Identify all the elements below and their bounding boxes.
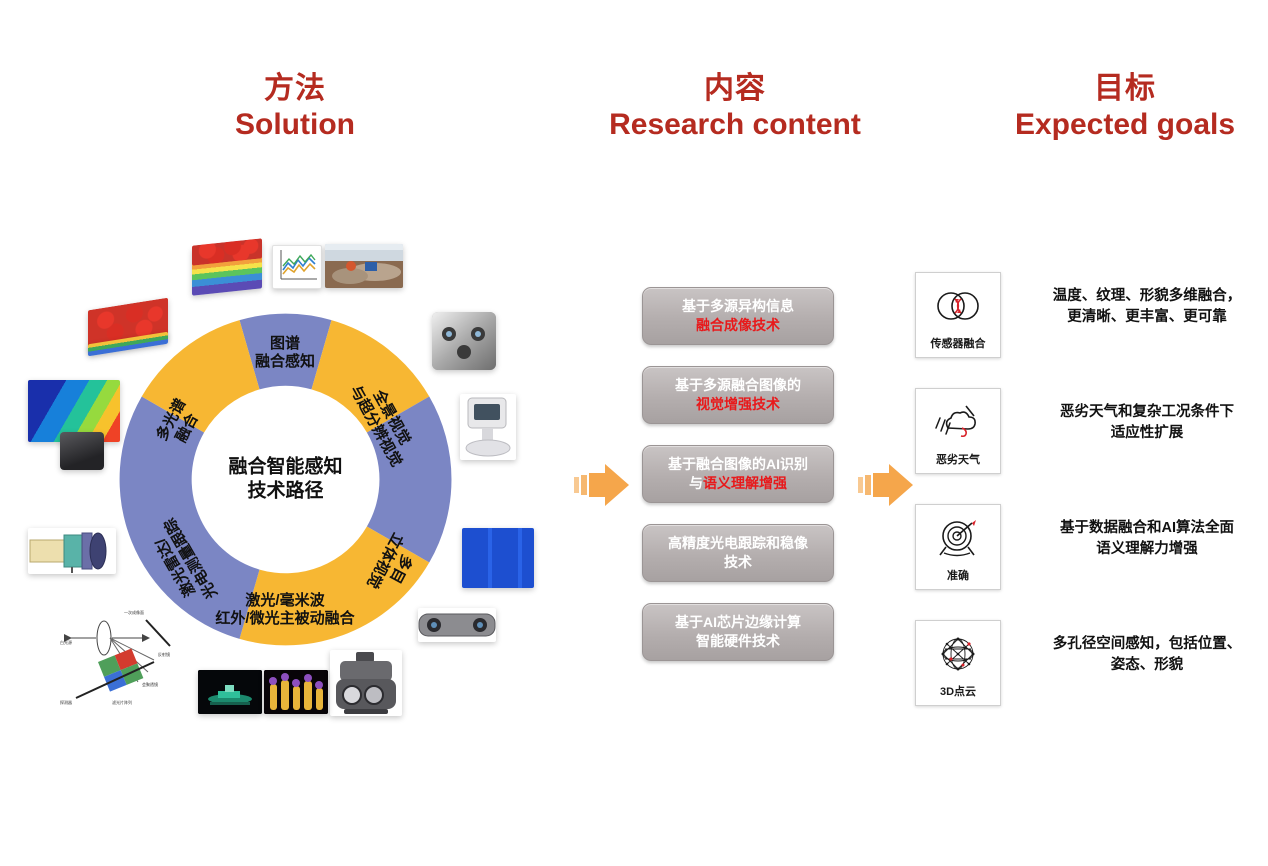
svg-text:滤光片阵列: 滤光片阵列 (112, 699, 132, 705)
goal-text-accuracy-l1: 基于数据融合和AI算法全面 (1027, 518, 1267, 539)
arrow-content-to-goals (856, 462, 914, 508)
column-header-solution-en: Solution (130, 108, 460, 142)
content-box-tracking-stabilization-l1: 高精度光电跟踪和稳像 (668, 535, 808, 551)
thumbnail-scanner-device (460, 394, 516, 460)
donut-center-line2: 技术路径 (228, 480, 342, 505)
content-box-ai-semantic[interactable]: 基于融合图像的AI识别 与语义理解增强 (642, 445, 834, 503)
goal-card-bad-weather[interactable]: 恶劣天气 (915, 388, 1001, 474)
expected-goals-list: 传感器融合 温度、纹理、形貌多维融合， 更清晰、更丰富、更可靠 (915, 272, 1265, 736)
column-header-goals-en: Expected goals (960, 108, 1268, 142)
content-box-visual-enhance-plain: 基于多源融合图像的 (675, 377, 801, 393)
venn-circles-icon (916, 273, 1000, 339)
column-header-content: 内容 Research content (570, 72, 900, 141)
thumbnail-optical-assembly (28, 528, 116, 574)
goal-text-accuracy-l2: 语义理解力增强 (1027, 539, 1267, 560)
column-header-goals-zh: 目标 (960, 72, 1268, 106)
content-box-fusion-imaging[interactable]: 基于多源异构信息 融合成像技术 (642, 287, 834, 345)
technology-path-donut: 图谱 融合感知 全景视觉 与超分辨视觉 多目 立体视觉 激光/毫米波 红外/微光… (118, 292, 453, 667)
right-arrow-icon (856, 462, 914, 508)
scanner-device-icon (460, 394, 516, 460)
goal-text-accuracy: 基于数据融合和AI算法全面 语义理解力增强 (1027, 518, 1267, 560)
thumbnail-industrial-site-photo (325, 244, 403, 288)
content-box-tracking-stabilization-l2: 技术 (724, 554, 752, 570)
goal-row-point-cloud: 3D点云 多孔径空间感知，包括位置、 姿态、形貌 (915, 620, 1265, 736)
content-box-ai-semantic-l2prefix: 与 (689, 475, 703, 491)
goal-text-sensor-fusion: 温度、纹理、形貌多维融合， 更清晰、更丰富、更可靠 (1027, 286, 1267, 328)
content-box-tracking-stabilization[interactable]: 高精度光电跟踪和稳像 技术 (642, 524, 834, 582)
column-header-content-zh: 内容 (570, 72, 900, 106)
column-header-solution-zh: 方法 (130, 72, 460, 106)
content-box-visual-enhance[interactable]: 基于多源融合图像的 视觉增强技术 (642, 366, 834, 424)
goal-card-point-cloud[interactable]: 3D点云 (915, 620, 1001, 706)
svg-text:白光源: 白光源 (60, 639, 72, 645)
content-box-ai-chip-edge-l1: 基于AI芯片边缘计算 (675, 614, 801, 630)
rain-cloud-icon (916, 389, 1000, 455)
goal-row-sensor-fusion: 传感器融合 温度、纹理、形貌多维融合， 更清晰、更丰富、更可靠 (915, 272, 1265, 388)
arrow-solution-to-content (572, 462, 630, 508)
content-box-ai-semantic-highlight: 语义理解增强 (703, 475, 787, 491)
content-box-fusion-imaging-plain: 基于多源异构信息 (682, 298, 794, 314)
goal-text-point-cloud-l2: 姿态、形貌 (1027, 655, 1267, 676)
goal-card-bad-weather-caption: 恶劣天气 (936, 455, 980, 466)
donut-segment-lidar-tracking (120, 397, 260, 639)
diagram-canvas: 方法 Solution 内容 Research content 目标 Expec… (0, 0, 1268, 866)
point-cloud-sphere-icon (916, 621, 1000, 687)
goal-text-sensor-fusion-l1: 温度、纹理、形貌多维融合， (1027, 286, 1267, 307)
thumbnail-spectral-curve-plot (272, 245, 322, 289)
goal-text-bad-weather-l1: 恶劣天气和复杂工况条件下 (1027, 402, 1267, 423)
goal-text-bad-weather-l2: 适应性扩展 (1027, 423, 1267, 444)
goal-card-point-cloud-caption: 3D点云 (940, 687, 976, 698)
goal-text-point-cloud-l1: 多孔径空间感知，包括位置、 (1027, 634, 1267, 655)
svg-text:会聚透镜: 会聚透镜 (142, 681, 158, 687)
research-content-list: 基于多源异构信息 融合成像技术 基于多源融合图像的 视觉增强技术 基于融合图像的… (642, 287, 834, 661)
column-header-content-en: Research content (570, 108, 900, 142)
svg-text:探测器: 探测器 (60, 699, 72, 705)
night-ship-icon (198, 670, 262, 714)
goal-card-accuracy-caption: 准确 (947, 571, 969, 582)
thumbnail-3d-depth-map (462, 528, 534, 588)
spectral-curve-icon (273, 246, 321, 288)
column-header-goals: 目标 Expected goals (960, 72, 1268, 141)
donut-center-line1: 融合智能感知 (228, 455, 342, 480)
content-box-ai-semantic-l1: 基于融合图像的AI识别 (668, 456, 808, 472)
goal-card-sensor-fusion-caption: 传感器融合 (931, 339, 986, 350)
content-box-visual-enhance-highlight: 视觉增强技术 (696, 396, 780, 412)
content-box-fusion-imaging-highlight: 融合成像技术 (696, 317, 780, 333)
goal-row-bad-weather: 恶劣天气 恶劣天气和复杂工况条件下 适应性扩展 (915, 388, 1265, 504)
optical-assembly-icon (28, 528, 116, 574)
goal-text-point-cloud: 多孔径空间感知，包括位置、 姿态、形貌 (1027, 634, 1267, 676)
content-box-ai-chip-edge-l2: 智能硬件技术 (696, 633, 780, 649)
donut-center-label: 融合智能感知 技术路径 (228, 455, 342, 504)
column-header-solution: 方法 Solution (130, 72, 460, 141)
goal-text-bad-weather: 恶劣天气和复杂工况条件下 适应性扩展 (1027, 402, 1267, 444)
thumbnail-camera-module-1 (60, 432, 104, 470)
goal-card-sensor-fusion[interactable]: 传感器融合 (915, 272, 1001, 358)
industrial-pipes-icon (325, 244, 403, 288)
thermal-crowd-icon (264, 670, 328, 714)
thumbnail-night-vision-ship (198, 670, 262, 714)
goal-card-accuracy[interactable]: 准确 (915, 504, 1001, 590)
goal-text-sensor-fusion-l2: 更清晰、更丰富、更可靠 (1027, 307, 1267, 328)
content-box-ai-chip-edge[interactable]: 基于AI芯片边缘计算 智能硬件技术 (642, 603, 834, 661)
target-dart-icon (916, 505, 1000, 571)
goal-row-accuracy: 准确 基于数据融合和AI算法全面 语义理解力增强 (915, 504, 1265, 620)
right-arrow-icon (572, 462, 630, 508)
thumbnail-thermal-crowd (264, 670, 328, 714)
